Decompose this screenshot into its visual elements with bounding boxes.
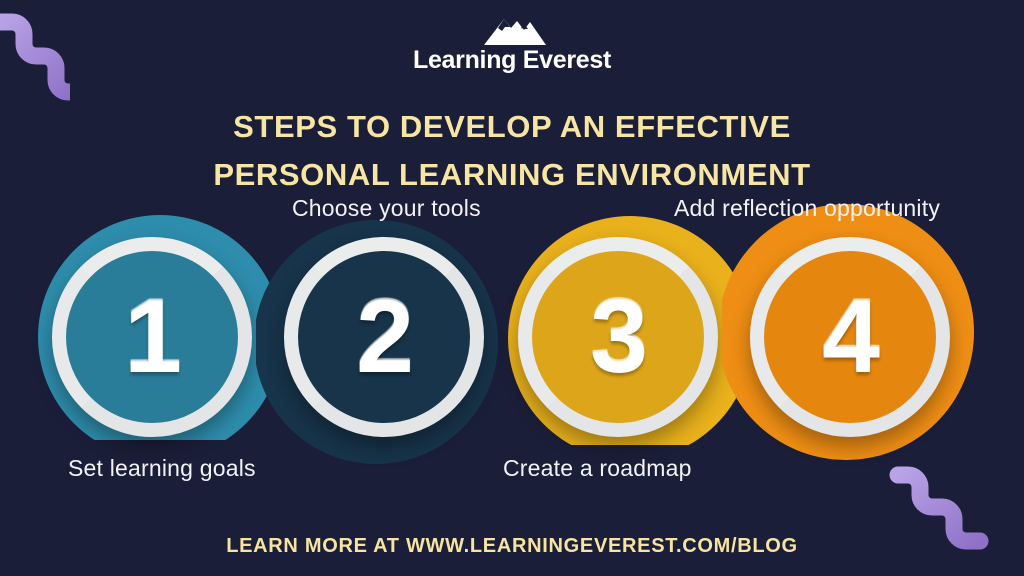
step-2[interactable]: 2 [256, 180, 512, 500]
step-1-label: Set learning goals [68, 455, 256, 483]
steps-row: 1 2 [0, 180, 1024, 500]
step-2-number: 2 [356, 285, 412, 389]
step-3[interactable]: 3 [490, 180, 746, 500]
step-1-number: 1 [124, 285, 180, 389]
step-4-disc[interactable]: 4 [750, 237, 950, 437]
step-4[interactable]: 4 [722, 180, 978, 500]
step-2-disc[interactable]: 2 [284, 237, 484, 437]
step-4-number: 4 [822, 285, 878, 389]
step-2-label: Choose your tools [292, 195, 481, 223]
step-3-label: Create a roadmap [503, 455, 692, 483]
step-3-disc[interactable]: 3 [518, 237, 718, 437]
step-1-disc[interactable]: 1 [52, 237, 252, 437]
step-4-label: Add reflection opportunity [674, 195, 940, 223]
footer-cta[interactable]: LEARN MORE AT WWW.LEARNINGEVEREST.COM/BL… [0, 535, 1024, 558]
mountain-peaks-icon [451, 8, 573, 51]
step-1[interactable]: 1 [24, 180, 280, 500]
brand-logo: Learning Everest [0, 8, 1024, 73]
infographic-canvas: Learning Everest STEPS TO DEVELOP AN EFF… [0, 0, 1024, 576]
step-3-number: 3 [590, 285, 646, 389]
brand-name: Learning Everest [413, 48, 611, 73]
page-title-line-1: STEPS TO DEVELOP AN EFFECTIVE [0, 103, 1024, 151]
